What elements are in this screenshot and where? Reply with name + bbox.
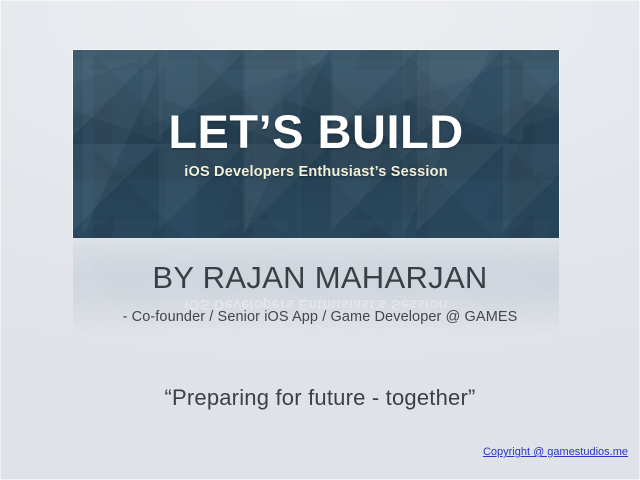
banner-image: LET’S BUILD iOS Developers Enthusiast’s … [73, 50, 559, 238]
banner-title: LET’S BUILD [168, 108, 463, 155]
tagline: “Preparing for future - together” [0, 385, 640, 411]
banner-text-group: LET’S BUILD iOS Developers Enthusiast’s … [73, 50, 559, 238]
copyright-link[interactable]: Copyright @ gamestudios.me [483, 446, 628, 458]
banner-subtitle: iOS Developers Enthusiast’s Session [184, 165, 448, 180]
banner-background: LET’S BUILD iOS Developers Enthusiast’s … [73, 50, 559, 238]
presentation-slide: LET’S BUILD iOS Developers Enthusiast’s … [0, 0, 640, 480]
presenter-role: - Co-founder / Senior iOS App / Game Dev… [0, 309, 640, 325]
presenter-name: BY RAJAN MAHARJAN [0, 262, 640, 295]
